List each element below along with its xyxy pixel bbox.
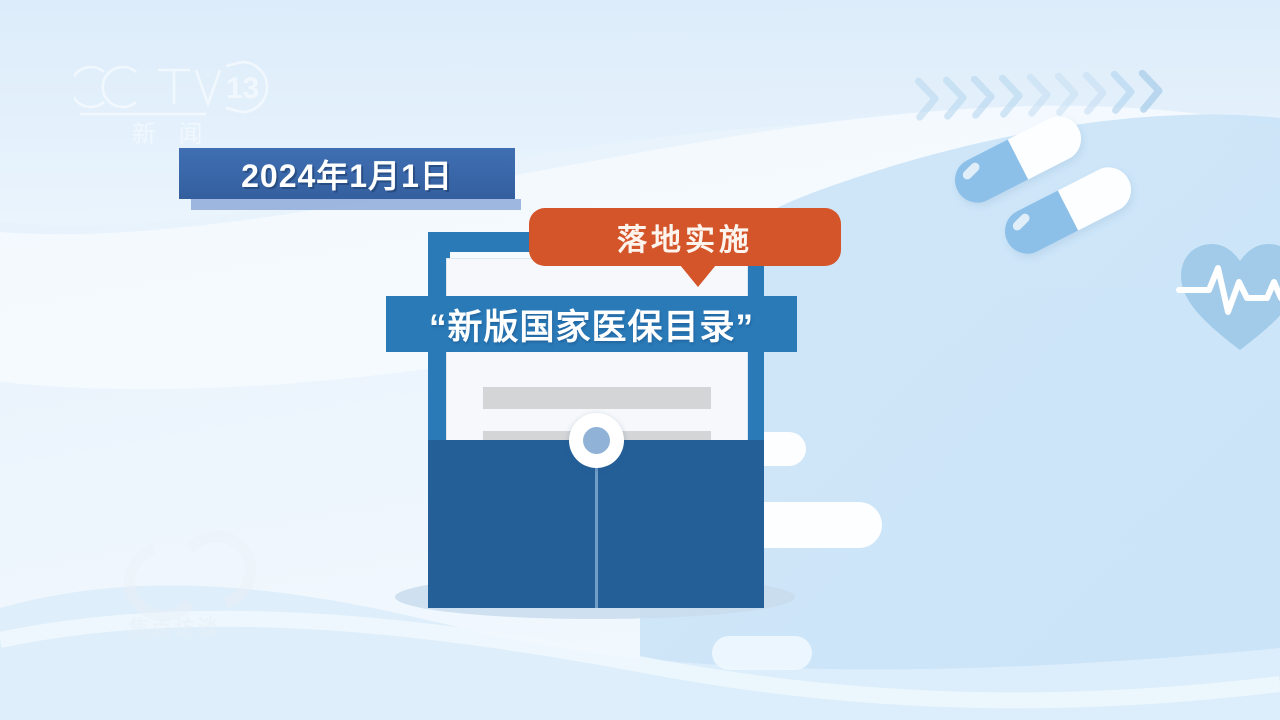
briefcase-clasp-center — [583, 427, 610, 454]
chevron-right-icon — [1110, 70, 1138, 115]
briefcase-illustration — [420, 232, 772, 607]
chevron-right-icon — [942, 75, 970, 120]
chevron-right-icon — [1138, 69, 1166, 114]
callout-label: 落地实施 — [617, 215, 753, 259]
cctv13-logo-watermark: 13 新 闻 — [74, 50, 284, 146]
chevron-right-icon — [1082, 71, 1110, 116]
program-watermark-label: 焦点访谈 — [127, 616, 220, 640]
date-banner-label: 2024年1月1日 — [241, 151, 453, 197]
speed-bar — [712, 636, 812, 670]
heart-ecg-icon — [1175, 238, 1280, 356]
cctv-channel-number: 13 — [226, 72, 259, 105]
date-banner-box: 2024年1月1日 — [179, 148, 515, 199]
news-graphic-canvas: 13 新 闻 焦点访谈 — [0, 0, 1280, 720]
callout-bubble-tail — [680, 265, 716, 287]
headline-title-label: “新版国家医保目录” — [429, 299, 754, 350]
chevron-arrow-strip — [914, 56, 1276, 131]
chevron-right-icon — [998, 73, 1026, 118]
headline-title-bar: “新版国家医保目录” — [386, 296, 797, 352]
chevron-right-icon — [1026, 72, 1054, 117]
date-banner-shadow — [191, 199, 521, 210]
program-logo-watermark: 焦点访谈 — [110, 523, 270, 643]
chevron-right-icon — [914, 76, 942, 121]
document-text-line — [483, 387, 711, 409]
date-banner: 2024年1月1日 — [179, 148, 515, 199]
cctv-channel-sub-label: 新 闻 — [132, 121, 211, 146]
chevron-right-icon — [970, 74, 998, 119]
callout-bubble: 落地实施 — [529, 208, 841, 266]
